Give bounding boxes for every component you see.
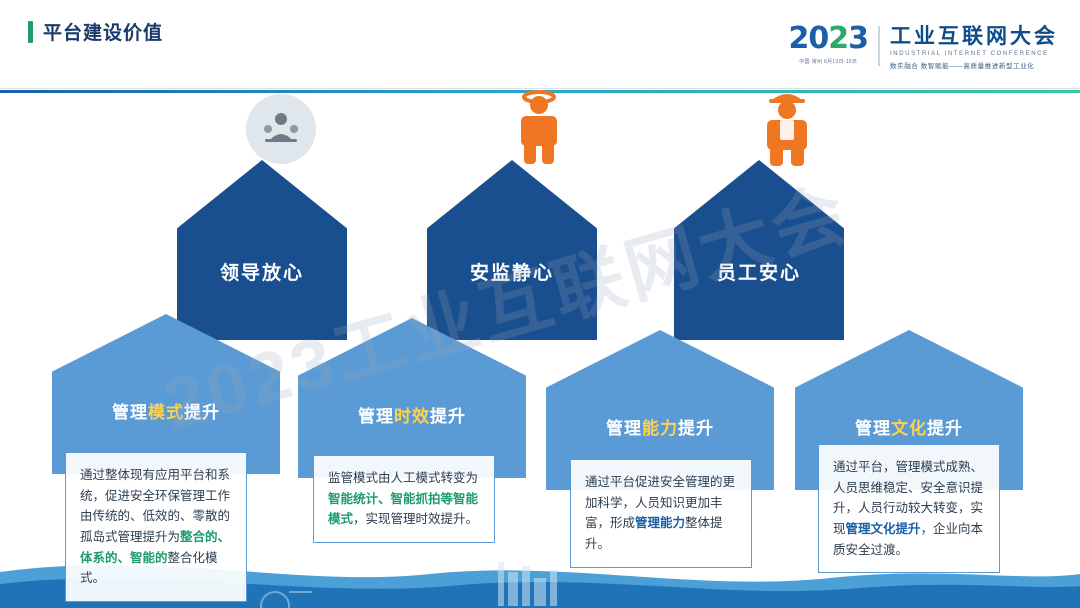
mid-house-4-highlight: 文化 <box>891 419 927 438</box>
conference-logo: 2023 中国·常州 6月13日-16日 工业互联网大会 INDUSTRIAL … <box>789 24 1059 70</box>
mid-house-2-label: 管理时效提升 <box>298 402 526 427</box>
mid-house-2-prefix: 管理 <box>358 407 394 426</box>
value-card-2-segment-3: ，实现管理时效提升。 <box>353 512 478 526</box>
mid-house-2-highlight: 时效 <box>394 407 430 426</box>
value-card-4: 通过平台，管理模式成熟、人员思维稳定、安全意识提升，人员行动较大转变，实现管理文… <box>818 444 1000 573</box>
page-title-bar: 平台建设价值 <box>28 18 163 45</box>
mid-house-4-suffix: 提升 <box>927 419 963 438</box>
diagram-stage: 领导放心 安监静心 员工安心 管理模式提升 管理时效提升 管理能力提升 管理文化… <box>0 92 1080 608</box>
mid-house-3-suffix: 提升 <box>678 419 714 438</box>
mid-house-3-prefix: 管理 <box>606 419 642 438</box>
top-house-3-shape <box>674 160 844 340</box>
top-house-3[interactable]: 员工安心 <box>674 160 844 340</box>
mid-house-2-shape <box>298 318 526 478</box>
top-house-2-label: 安监静心 <box>427 258 597 285</box>
logo-tagline: 数实融合 数智赋能——高质量推进新型工业化 <box>890 60 1058 70</box>
value-card-2-text: 监管模式由人工模式转变为智能统计、智能抓拍等智能模式，实现管理时效提升。 <box>328 471 478 526</box>
top-house-1[interactable]: 领导放心 <box>177 160 347 340</box>
logo-name-en: INDUSTRIAL INTERNET CONFERENCE <box>890 51 1058 57</box>
mid-house-1-shape <box>52 314 280 474</box>
mid-house-4-prefix: 管理 <box>855 419 891 438</box>
mid-house-1-highlight: 模式 <box>148 403 184 422</box>
top-house-1-label: 领导放心 <box>177 258 347 285</box>
mid-house-4-label: 管理文化提升 <box>795 414 1023 439</box>
logo-name-block: 工业互联网大会 INDUSTRIAL INTERNET CONFERENCE 数… <box>890 24 1058 70</box>
page-title: 平台建设价值 <box>43 18 163 45</box>
value-card-2: 监管模式由人工模式转变为智能统计、智能抓拍等智能模式，实现管理时效提升。 <box>313 455 495 543</box>
icon-badge-2 <box>508 88 578 158</box>
logo-name-cn: 工业互联网大会 <box>890 26 1058 47</box>
top-house-3-label: 员工安心 <box>674 258 844 285</box>
value-card-3-segment-2: 管理能力 <box>635 516 685 530</box>
value-card-1-text: 通过整体现有应用平台和系统，促进安全环保管理工作由传统的、低效的、零散的孤岛式管… <box>80 468 230 585</box>
page-header: 平台建设价值 2023 中国·常州 6月13日-16日 工业互联网大会 INDU… <box>0 0 1080 92</box>
worker-icon <box>756 86 818 166</box>
title-accent-bar <box>28 21 33 43</box>
mid-house-3-label: 管理能力提升 <box>546 414 774 439</box>
icon-badge-3 <box>756 86 826 156</box>
value-card-2-segment-1: 监管模式由人工模式转变为 <box>328 471 478 485</box>
value-card-4-text: 通过平台，管理模式成熟、人员思维稳定、安全意识提升，人员行动较大转变，实现管理文… <box>833 460 983 557</box>
value-card-1: 通过整体现有应用平台和系统，促进安全环保管理工作由传统的、低效的、零散的孤岛式管… <box>65 452 247 602</box>
mid-house-2[interactable]: 管理时效提升 <box>298 318 526 478</box>
mid-house-1-prefix: 管理 <box>112 403 148 422</box>
value-card-3-text: 通过平台促进安全管理的更加科学，人员知识更加丰富，形成管理能力整体提升。 <box>585 475 735 551</box>
logo-year: 2023 <box>789 24 869 54</box>
logo-divider <box>878 26 880 66</box>
icon-badge-1 <box>246 94 316 164</box>
top-house-2[interactable]: 安监静心 <box>427 160 597 340</box>
mid-house-1-suffix: 提升 <box>184 403 220 422</box>
mid-house-3-highlight: 能力 <box>642 419 678 438</box>
person-helmet-icon <box>508 88 570 166</box>
top-house-1-shape <box>177 160 347 340</box>
value-card-4-segment-2: 管理文化提升 <box>846 522 921 536</box>
mid-house-2-suffix: 提升 <box>430 407 466 426</box>
person-meeting-icon <box>246 94 316 164</box>
top-house-2-shape <box>427 160 597 340</box>
mid-house-1[interactable]: 管理模式提升 <box>52 314 280 474</box>
mid-house-1-label: 管理模式提升 <box>52 398 280 423</box>
value-card-3: 通过平台促进安全管理的更加科学，人员知识更加丰富，形成管理能力整体提升。 <box>570 459 752 568</box>
logo-year-sub: 中国·常州 6月13日-16日 <box>789 58 869 65</box>
logo-year-block: 2023 中国·常州 6月13日-16日 <box>789 24 869 65</box>
